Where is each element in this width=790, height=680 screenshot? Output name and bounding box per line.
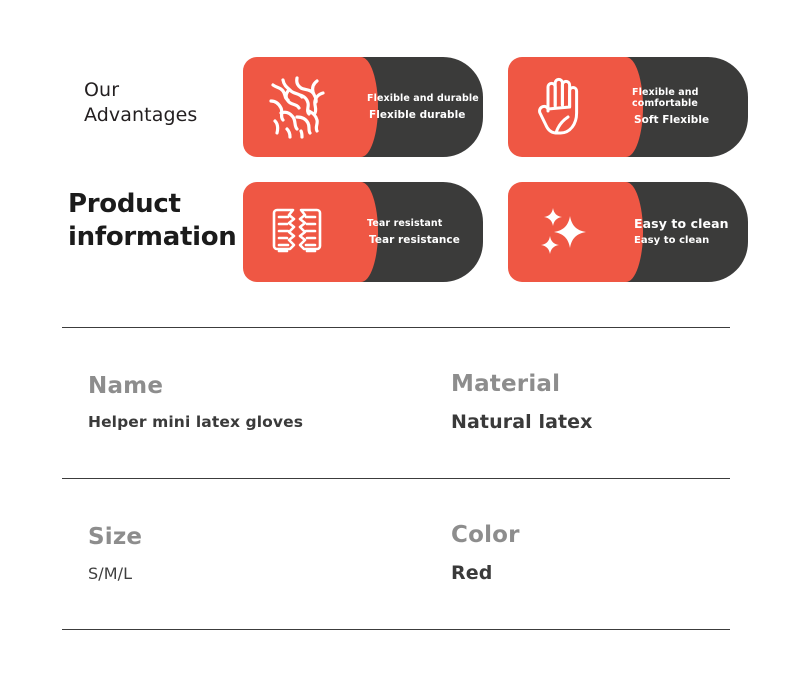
card-subtitle: Tear resistance bbox=[369, 234, 481, 247]
spec-label: Color bbox=[451, 523, 730, 548]
spec-row-size-color: Size S/M/L Color Red bbox=[62, 479, 730, 629]
card-title: Flexible and durable bbox=[367, 93, 481, 104]
card-subtitle: Easy to clean bbox=[634, 235, 746, 247]
card-subtitle: Flexible durable bbox=[369, 109, 481, 122]
spec-value: Helper mini latex gloves bbox=[88, 413, 396, 432]
sparkles-icon bbox=[526, 196, 598, 268]
spec-label: Material bbox=[451, 372, 730, 397]
card-text: Flexible and comfortable Soft Flexible bbox=[628, 57, 746, 157]
spec-cell-color: Color Red bbox=[396, 479, 730, 629]
card-text: Flexible and durable Flexible durable bbox=[363, 57, 481, 157]
card-title: Easy to clean bbox=[634, 217, 746, 232]
card-title: Tear resistant bbox=[367, 218, 481, 229]
spec-value: S/M/L bbox=[88, 564, 396, 583]
card-subtitle: Soft Flexible bbox=[634, 114, 746, 127]
spec-value: Red bbox=[451, 562, 730, 585]
spec-label: Size bbox=[88, 525, 396, 550]
spec-value: Natural latex bbox=[451, 411, 730, 434]
card-text: Easy to clean Easy to clean bbox=[628, 182, 746, 282]
tear-resistant-icon bbox=[261, 196, 333, 268]
advantage-card-flexible-comfortable[interactable]: Flexible and comfortable Soft Flexible bbox=[508, 57, 748, 157]
spec-cell-name: Name Helper mini latex gloves bbox=[62, 328, 396, 478]
cracked-web-icon bbox=[261, 71, 333, 143]
spec-row-name-material: Name Helper mini latex gloves Material N… bbox=[62, 328, 730, 478]
spec-cell-material: Material Natural latex bbox=[396, 328, 730, 478]
spec-divider-bottom bbox=[62, 629, 730, 630]
product-spec-table: Name Helper mini latex gloves Material N… bbox=[62, 327, 730, 630]
spec-cell-size: Size S/M/L bbox=[62, 479, 396, 629]
advantage-card-easy-to-clean[interactable]: Easy to clean Easy to clean bbox=[508, 182, 748, 282]
advantage-card-flexible-durable[interactable]: Flexible and durable Flexible durable bbox=[243, 57, 483, 157]
spec-label: Name bbox=[88, 374, 396, 399]
open-hand-icon bbox=[526, 71, 598, 143]
card-title: Flexible and comfortable bbox=[632, 87, 746, 109]
card-text: Tear resistant Tear resistance bbox=[363, 182, 481, 282]
advantage-card-tear-resistant[interactable]: Tear resistant Tear resistance bbox=[243, 182, 483, 282]
advantage-cards-group: Flexible and durable Flexible durable Fl… bbox=[0, 0, 790, 300]
